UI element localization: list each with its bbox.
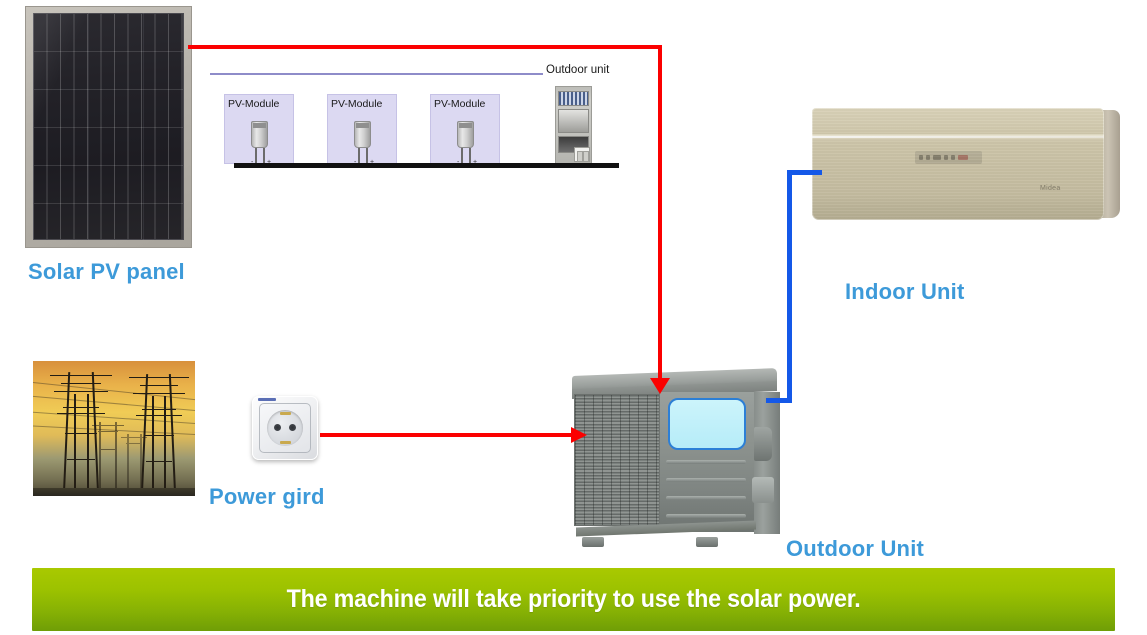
indoor-to-outdoor-line-bottom [766,398,792,403]
socket-earth-clip-top [280,412,291,415]
diagram-canvas: Solar PV panel Outdoor unit PV-Module - … [0,0,1147,635]
display-icon-2 [926,155,930,160]
priority-banner-text: The machine will take priority to use th… [287,585,861,614]
display-icon-4 [944,155,948,160]
solar-to-outdoor-arrowhead-icon [650,378,670,394]
outdoor-unit-foot-left [582,537,604,547]
indoor-to-outdoor-line-vertical [787,170,792,403]
outdoor-unit-valve-cover [754,427,772,461]
outdoor-unit-slat-2 [666,478,746,482]
inverter-breaker-row [558,91,589,106]
solar-pv-panel-image [25,6,192,248]
indoor-unit-image: Midea [812,108,1120,225]
ground-horizon [33,488,195,496]
display-icon-3 [933,155,941,160]
inverter-module-row [558,109,589,133]
outdoor-unit-blue-panel [668,398,746,450]
outdoor-unit-foot-right [696,537,718,547]
pv-module-1-device [251,121,268,148]
pv-module-1-label: PV-Module [228,98,279,110]
solar-to-outdoor-line-horizontal [188,45,662,49]
pv-module-3-label: PV-Module [434,98,485,110]
indoor-unit-label: Indoor Unit [845,279,965,305]
pv-module-2: PV-Module - + [327,94,397,164]
pv-module-2-label: PV-Module [331,98,382,110]
transmission-tower-3 [97,422,119,492]
grid-to-outdoor-arrowhead-icon [571,427,587,443]
inverter-terminals [574,147,590,162]
wall-socket-image [252,396,318,460]
solar-cell-grid [33,13,184,240]
pv-module-1: PV-Module - + [224,94,294,164]
socket-label-tab [258,398,276,401]
socket-faceplate [259,403,311,453]
outdoor-unit-image [568,372,790,547]
power-grid-label: Power gird [209,484,325,510]
pv-schematic-top-line [210,73,543,75]
socket-hole-right [289,424,296,431]
power-grid-image [33,361,195,496]
outdoor-unit-slat-3 [666,496,746,500]
pv-module-2-device [354,121,371,148]
pv-module-3-device [457,121,474,148]
outdoor-unit-slat-4 [666,514,746,518]
outdoor-unit-label: Outdoor Unit [786,536,924,562]
pv-inverter-image [555,86,592,164]
outdoor-unit-side-panel [754,392,780,534]
grid-to-outdoor-line [320,433,575,437]
transmission-tower-4 [125,434,143,492]
pv-busbar [234,163,619,168]
indoor-unit-body: Midea [812,108,1104,220]
outdoor-unit-service-port [752,477,774,503]
transmission-tower-2 [138,374,180,492]
priority-banner: The machine will take priority to use th… [32,568,1115,631]
indoor-to-outdoor-line-top [787,170,822,175]
solar-pv-panel-label: Solar PV panel [28,259,185,285]
pv-module-3: PV-Module - + [430,94,500,164]
display-icon-1 [919,155,923,160]
indoor-unit-display-panel [915,151,982,164]
display-icon-5 [951,155,955,160]
socket-earth-clip-bottom [280,441,291,444]
pv-module-schematic: Outdoor unit PV-Module - + PV-Module - +… [210,62,625,174]
solar-to-outdoor-line-vertical [658,45,662,383]
outdoor-unit-slat-1 [666,460,746,464]
socket-recess [267,410,303,446]
socket-hole-left [274,424,281,431]
outdoor-unit-condenser-coil [574,394,660,526]
outdoor-unit-front-face [659,392,755,532]
indoor-unit-brand-logo: Midea [1040,185,1061,192]
display-readout [958,155,968,160]
pv-schematic-outdoor-unit-callout: Outdoor unit [546,64,609,76]
